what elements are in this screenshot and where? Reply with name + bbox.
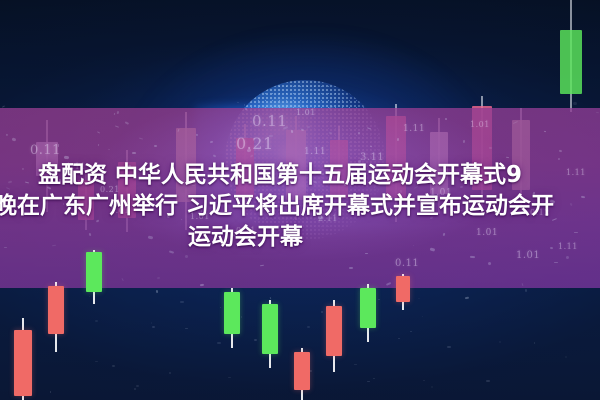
candlestick-body xyxy=(86,252,102,292)
candlestick-body xyxy=(14,330,32,396)
candlestick-body xyxy=(294,352,310,390)
candlestick-body xyxy=(224,292,240,334)
headline-line-2: 晚在广东广州举行 习近平将出席开幕式并宣布运动会开 xyxy=(0,191,554,221)
news-thumbnail-image: 0.111.110.210.110.211.011.113.111.111.01… xyxy=(0,0,600,400)
headline-line-1: 盘配资 中华人民共和国第十五届运动会开幕式9 xyxy=(38,160,522,190)
candlestick-body xyxy=(396,276,410,302)
candlestick-body xyxy=(48,286,64,334)
candlestick-body xyxy=(262,304,278,354)
headline-line-3: 运动会开幕 xyxy=(188,222,303,252)
candlestick-body xyxy=(360,288,376,328)
candlestick-body xyxy=(326,306,342,356)
